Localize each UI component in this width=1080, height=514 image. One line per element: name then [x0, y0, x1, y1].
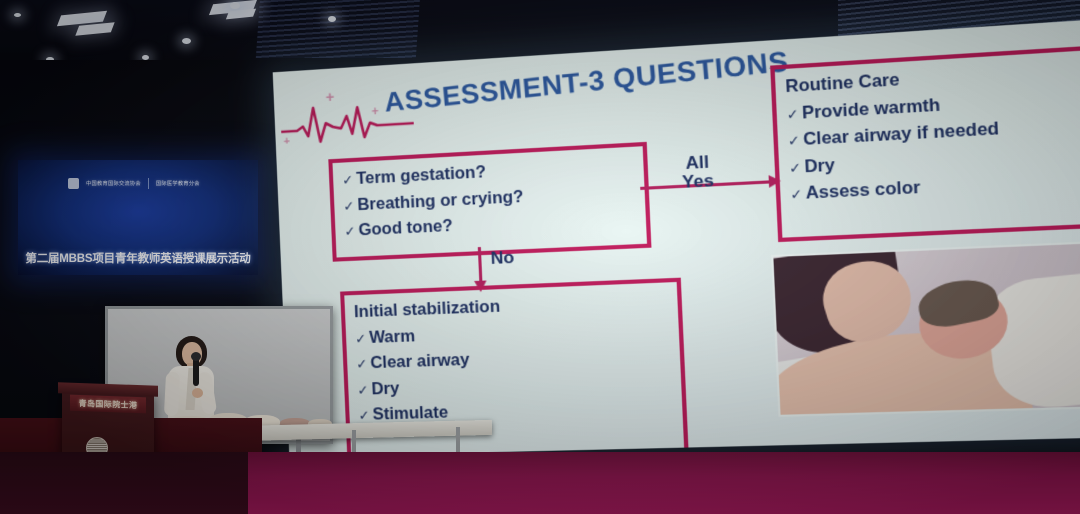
no-label: No — [490, 248, 514, 269]
conference-banner: 中国教育国际交流协会 国际医学教育分会 第二届MBBS项目青年教师英语授课展示活… — [18, 160, 258, 275]
item-label: Warm — [369, 324, 416, 351]
banner-divider — [148, 178, 149, 189]
slide-content: + + + ASSESSMENT-3 QUESTIONS ✓ Term gest… — [273, 15, 1080, 457]
check-icon: ✓ — [789, 157, 802, 179]
association-logo-icon — [68, 178, 79, 189]
check-icon: ✓ — [357, 380, 369, 401]
item-label: Dry — [371, 376, 400, 403]
item-label: Good tone? — [358, 214, 453, 244]
microphone-head — [191, 352, 201, 361]
item-label: Dry — [804, 152, 836, 181]
ceiling-panel-light-2 — [75, 22, 114, 35]
check-icon: ✓ — [356, 354, 368, 375]
slatted-ceiling-panel-left — [256, 0, 420, 58]
all-yes-line2: Yes — [665, 171, 731, 193]
check-icon: ✓ — [786, 104, 799, 126]
plus-mark-3: + — [283, 135, 290, 147]
ceiling-spotlight-2 — [14, 13, 21, 17]
check-icon: ✓ — [343, 196, 355, 217]
plus-mark-1: + — [325, 89, 335, 107]
routine-care-box: Routine Care ✓ Provide warmth ✓ Clear ai… — [770, 40, 1080, 242]
check-icon: ✓ — [787, 130, 800, 152]
ceiling-spotlight-6 — [230, 2, 240, 9]
banner-event-title: 第二届MBBS项目青年教师英语授课展示活动 — [24, 250, 252, 266]
ceiling-panel-light-4 — [226, 9, 256, 20]
podium-sign: 青岛国际院士港 — [70, 395, 146, 414]
all-yes-label: All Yes — [664, 152, 730, 193]
item-label: Assess color — [805, 175, 921, 208]
mother-and-newborn-photo — [771, 238, 1080, 417]
item-label: Clear airway — [370, 348, 470, 377]
check-icon: ✓ — [344, 222, 356, 243]
plus-mark-2: + — [371, 104, 379, 119]
lecture-hall-scene: 中国教育国际交流协会 国际医学教育分会 第二届MBBS项目青年教师英语授课展示活… — [0, 0, 1080, 514]
ceiling-spotlight-5 — [328, 16, 336, 22]
assessment-questions-box: ✓ Term gestation? ✓ Breathing or crying?… — [328, 142, 651, 262]
check-icon: ✓ — [342, 170, 354, 191]
ceiling-spotlight-3 — [182, 38, 191, 44]
presenter-hand — [192, 388, 203, 398]
banner-org-secondary: 国际医学教育分会 — [156, 180, 200, 187]
stage-floor-shadow — [0, 452, 248, 514]
check-icon: ✓ — [790, 184, 803, 206]
banner-logo-row: 中国教育国际交流协会 国际医学教育分会 — [68, 178, 200, 189]
projection-screen: + + + ASSESSMENT-3 QUESTIONS ✓ Term gest… — [273, 15, 1080, 457]
banner-org-primary: 中国教育国际交流协会 — [86, 180, 141, 187]
check-icon: ✓ — [355, 328, 367, 349]
podium-sign-text: 青岛国际院士港 — [79, 397, 138, 410]
presenter-arm-left — [164, 372, 180, 417]
